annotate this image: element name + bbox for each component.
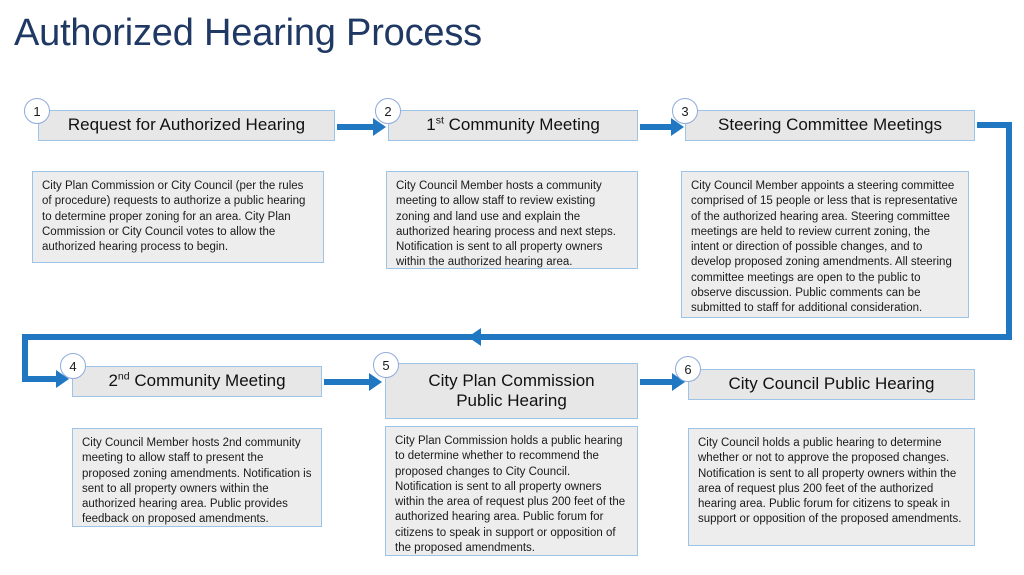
step-description-1: City Plan Commission or City Council (pe…: [32, 171, 324, 263]
connector-3-to-4-segment-return: [22, 334, 1012, 340]
step-title-5: City Plan Commission: [428, 371, 594, 391]
step-header-4[interactable]: 2nd Community Meeting: [72, 366, 322, 397]
connector-2-to-3: [640, 124, 673, 130]
step-badge-6: 6: [675, 356, 701, 382]
step-header-1[interactable]: Request for Authorized Hearing: [38, 110, 335, 141]
step-badge-4: 4: [60, 353, 86, 379]
step-title-5-line2: Public Hearing: [456, 391, 567, 411]
page-title: Authorized Hearing Process: [14, 12, 482, 55]
step-description-6: City Council holds a public hearing to d…: [688, 428, 975, 546]
step-title-3: Steering Committee Meetings: [718, 115, 942, 135]
connector-1-to-2: [337, 124, 375, 130]
step-description-2: City Council Member hosts a community me…: [386, 171, 638, 269]
step-header-5[interactable]: City Plan Commission Public Hearing: [385, 363, 638, 419]
step-badge-1: 1: [24, 98, 50, 124]
connector-5-to-6: [640, 379, 674, 385]
step-header-6[interactable]: City Council Public Hearing: [688, 369, 975, 400]
step-badge-3: 3: [672, 98, 698, 124]
step-badge-2: 2: [375, 98, 401, 124]
step-title-1: Request for Authorized Hearing: [68, 115, 305, 135]
step-title-6: City Council Public Hearing: [729, 374, 935, 394]
step-header-3[interactable]: Steering Committee Meetings: [685, 110, 975, 141]
step-title-2: 1st Community Meeting: [426, 115, 600, 135]
connector-3-to-4-segment-down-left: [22, 334, 28, 379]
step-badge-5: 5: [373, 352, 399, 378]
connector-4-to-5: [324, 379, 371, 385]
step-description-4: City Council Member hosts 2nd community …: [72, 428, 322, 527]
step-description-5: City Plan Commission holds a public hear…: [385, 426, 638, 556]
arrowhead-3-to-4-return: [468, 328, 481, 346]
step-title-4: 2nd Community Meeting: [108, 371, 285, 391]
connector-3-to-4-segment-into-step4: [22, 376, 58, 382]
connector-3-to-4-segment-down: [1006, 122, 1012, 335]
step-header-2[interactable]: 1st Community Meeting: [388, 110, 638, 141]
step-description-3: City Council Member appoints a steering …: [681, 171, 969, 318]
